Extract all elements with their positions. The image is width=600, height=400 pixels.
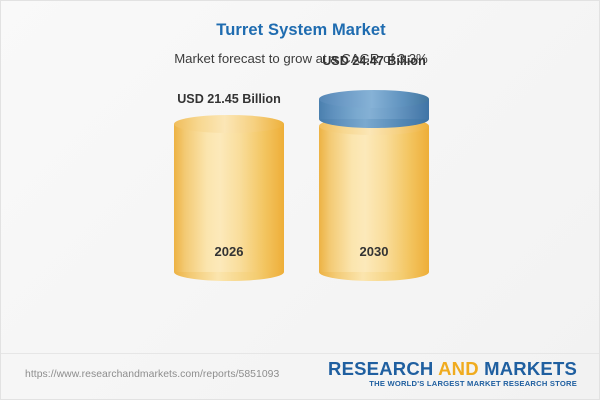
brand-logo: RESEARCH AND MARKETS THE WORLD'S LARGEST… (328, 359, 577, 388)
chart-plot-area: USD 21.45 Billion 2026 USD 24.47 Billion (1, 76, 600, 341)
cylinder-segment-growth-2030 (319, 90, 429, 128)
report-url[interactable]: https://www.researchandmarkets.com/repor… (25, 369, 279, 380)
bar-value-label-2030: USD 24.47 Billion (322, 54, 426, 68)
brand-name: RESEARCH AND MARKETS (328, 359, 577, 378)
brand-name-part2: MARKETS (479, 358, 577, 379)
brand-name-and: AND (438, 358, 479, 379)
bar-value-label-2026: USD 21.45 Billion (177, 92, 281, 106)
chart-subtitle: Market forecast to grow at a CAGR of 3.3… (1, 51, 600, 66)
x-axis-label-2026: 2026 (215, 244, 244, 259)
brand-tagline: THE WORLD'S LARGEST MARKET RESEARCH STOR… (328, 379, 577, 388)
brand-name-part1: RESEARCH (328, 358, 438, 379)
cylinder-top-ellipse-2026 (174, 115, 284, 133)
x-axis-label-2030: 2030 (360, 244, 389, 259)
cylinder-top-ellipse-growth-2030 (319, 90, 429, 108)
chart-title: Turret System Market (1, 21, 600, 40)
footer-divider (1, 353, 600, 354)
market-forecast-infographic: Turret System Market Market forecast to … (0, 0, 600, 400)
